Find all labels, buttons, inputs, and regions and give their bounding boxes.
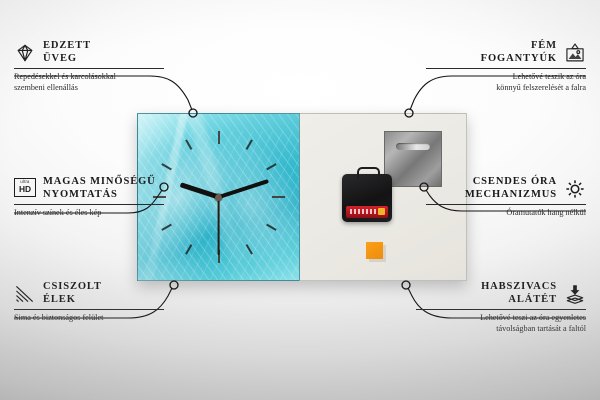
feature-title: EDZETTÜVEG (43, 40, 91, 65)
feature-foam-pad[interactable]: HABSZIVACSALÁTÉT Lehetővé teszi az óra e… (416, 281, 586, 334)
feature-title: MAGAS MINŐSÉGŰNYOMTATÁS (43, 176, 156, 201)
diamond-icon (14, 42, 36, 64)
battery-label (350, 209, 376, 214)
feature-title: CSISZOLTÉLEK (43, 281, 102, 306)
feature-description: Sima és biztonságos felület (14, 313, 164, 324)
feature-tempered-glass[interactable]: EDZETTÜVEG Repedésekkel és karcolásokkal… (14, 40, 164, 93)
feature-polished-edges[interactable]: CSISZOLTÉLEK Sima és biztonságos felület (14, 281, 164, 324)
feature-description: Óramutatók hang nélkül (426, 208, 586, 219)
divider (14, 68, 164, 69)
feature-header: FÉMFOGANTYÚK (426, 40, 586, 65)
clock-second-hand (218, 197, 220, 255)
battery-plus-terminal (378, 208, 385, 215)
feature-header: HABSZIVACSALÁTÉT (416, 281, 586, 306)
gear-icon (564, 178, 586, 200)
battery (346, 206, 388, 218)
divider (426, 204, 586, 205)
divider (426, 68, 586, 69)
foam-pad-icon (564, 283, 586, 305)
polished-edge-icon (14, 283, 36, 305)
quartz-clock-movement (342, 174, 392, 222)
hanger-slot (396, 143, 430, 150)
divider (14, 309, 164, 310)
feature-high-quality-print[interactable]: ultraHD MAGAS MINŐSÉGŰNYOMTATÁS Intenzív… (14, 176, 164, 219)
feature-silent-mechanism[interactable]: CSENDES ÓRAMECHANIZMUS Óramutatók hang n… (426, 176, 586, 219)
feature-description: Lehetővé teszi az óra egyenletestávolság… (416, 313, 586, 334)
picture-hanger-icon (564, 42, 586, 64)
divider (416, 309, 586, 310)
feature-header: CSISZOLTÉLEK (14, 281, 164, 306)
clock-center-cap (215, 194, 222, 201)
feature-title: HABSZIVACSALÁTÉT (481, 281, 557, 306)
movement-hook (357, 167, 380, 179)
feature-header: CSENDES ÓRAMECHANIZMUS (426, 176, 586, 201)
foam-spacer-pad (366, 242, 383, 259)
feature-header: EDZETTÜVEG (14, 40, 164, 65)
product-image (137, 113, 467, 281)
feature-title: CSENDES ÓRAMECHANIZMUS (465, 176, 557, 201)
feature-title: FÉMFOGANTYÚK (481, 40, 557, 65)
feature-description: Intenzív színek és éles kép (14, 208, 164, 219)
ultra-hd-icon: ultraHD (14, 178, 36, 200)
divider (14, 204, 164, 205)
feature-header: ultraHD MAGAS MINŐSÉGŰNYOMTATÁS (14, 176, 164, 201)
feature-description: Lehetővé teszik az órakönnyű felszerelés… (426, 72, 586, 93)
feature-metal-handles[interactable]: FÉMFOGANTYÚK Lehetővé teszik az órakönny… (426, 40, 586, 93)
infographic-canvas: EDZETTÜVEG Repedésekkel és karcolásokkal… (0, 0, 600, 400)
feature-description: Repedésekkel és karcolásokkalszembeni el… (14, 72, 164, 93)
